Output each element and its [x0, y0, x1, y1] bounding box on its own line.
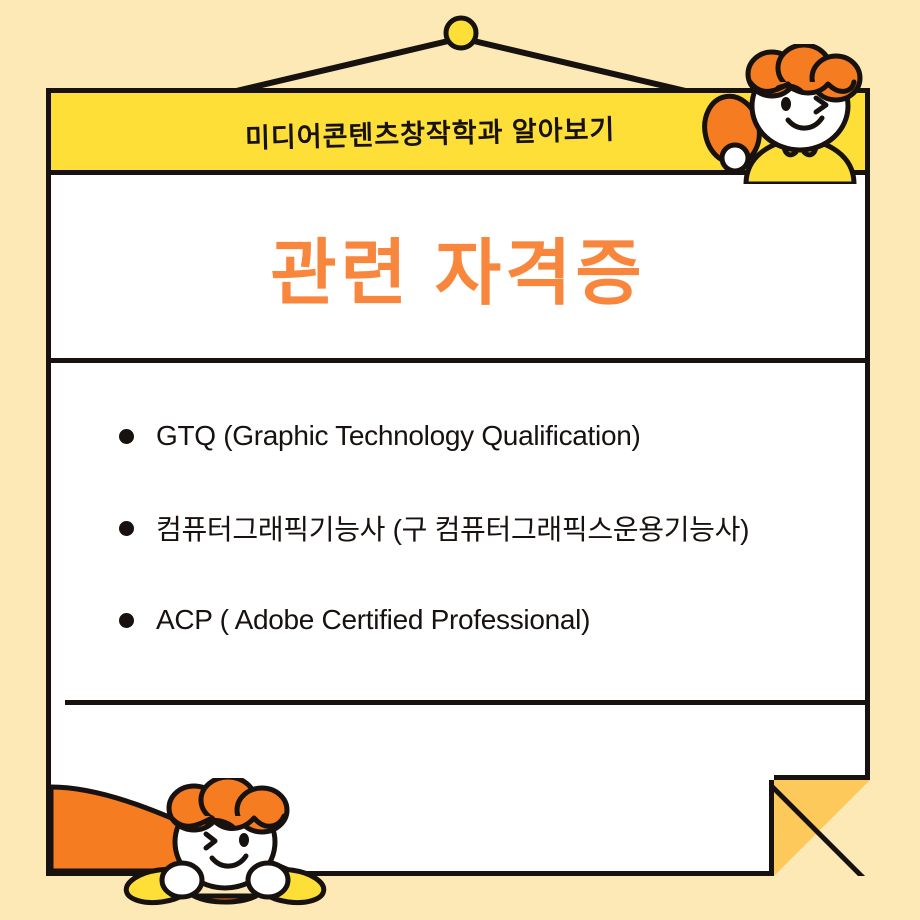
character-hand-left [162, 863, 202, 897]
bullet-dot-icon [119, 429, 134, 444]
mascot-character-bottom [120, 778, 330, 908]
page-title: 관련 자격증 [270, 214, 645, 319]
bullet-dot-icon [119, 521, 134, 536]
lower-divider [65, 700, 870, 705]
yellow-nail-icon [446, 18, 476, 48]
hanger-string-right [461, 38, 690, 92]
title-section: 관련 자격증 [51, 175, 865, 363]
mascot-character-top [700, 44, 890, 184]
list-item: 컴퓨터그래픽기능사 (구 컴퓨터그래픽스운용기능사) [51, 508, 865, 548]
info-card: 미디어콘텐츠창작학과 알아보기 관련 자격증 GTQ (Graphic Tech… [46, 88, 870, 876]
corner-fold-diagonal [774, 780, 870, 876]
certification-list: GTQ (Graphic Technology Qualification) 컴… [51, 368, 865, 692]
character-eye-right [239, 833, 249, 847]
poster-canvas: 미디어콘텐츠창작학과 알아보기 관련 자격증 GTQ (Graphic Tech… [0, 0, 920, 920]
character-hand [722, 145, 748, 171]
list-item: ACP ( Adobe Certified Professional) [51, 604, 865, 636]
list-item: GTQ (Graphic Technology Qualification) [51, 420, 865, 452]
banner-title: 미디어콘텐츠창작학과 알아보기 [244, 107, 615, 155]
list-item-label: GTQ (Graphic Technology Qualification) [156, 420, 641, 452]
list-item-label: ACP ( Adobe Certified Professional) [156, 604, 590, 636]
hanger-string-left [232, 38, 461, 92]
bullet-dot-icon [119, 613, 134, 628]
list-item-label: 컴퓨터그래픽기능사 (구 컴퓨터그래픽스운용기능사) [156, 508, 749, 548]
character-hand-right [248, 863, 288, 897]
character-body-bottom [194, 896, 256, 902]
character-eye-left [781, 97, 791, 111]
